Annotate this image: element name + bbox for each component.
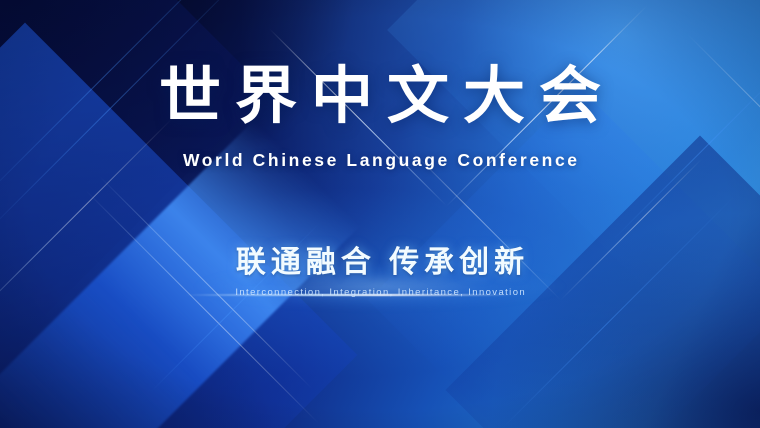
poster-content: 世界中文大会 World Chinese Language Conference…: [0, 0, 760, 428]
page-title: 世界中文大会: [145, 66, 615, 128]
page-subtitle-english: World Chinese Language Conference: [180, 150, 579, 171]
slogan-chinese: 联通融合 传承创新: [231, 248, 529, 278]
slogan-english: Interconnection, Integration, Inheritanc…: [234, 287, 526, 298]
slogan-block: 联通融合 传承创新 Interconnection, Integration, …: [0, 248, 760, 298]
conference-poster: 世界中文大会 World Chinese Language Conference…: [0, 0, 760, 428]
